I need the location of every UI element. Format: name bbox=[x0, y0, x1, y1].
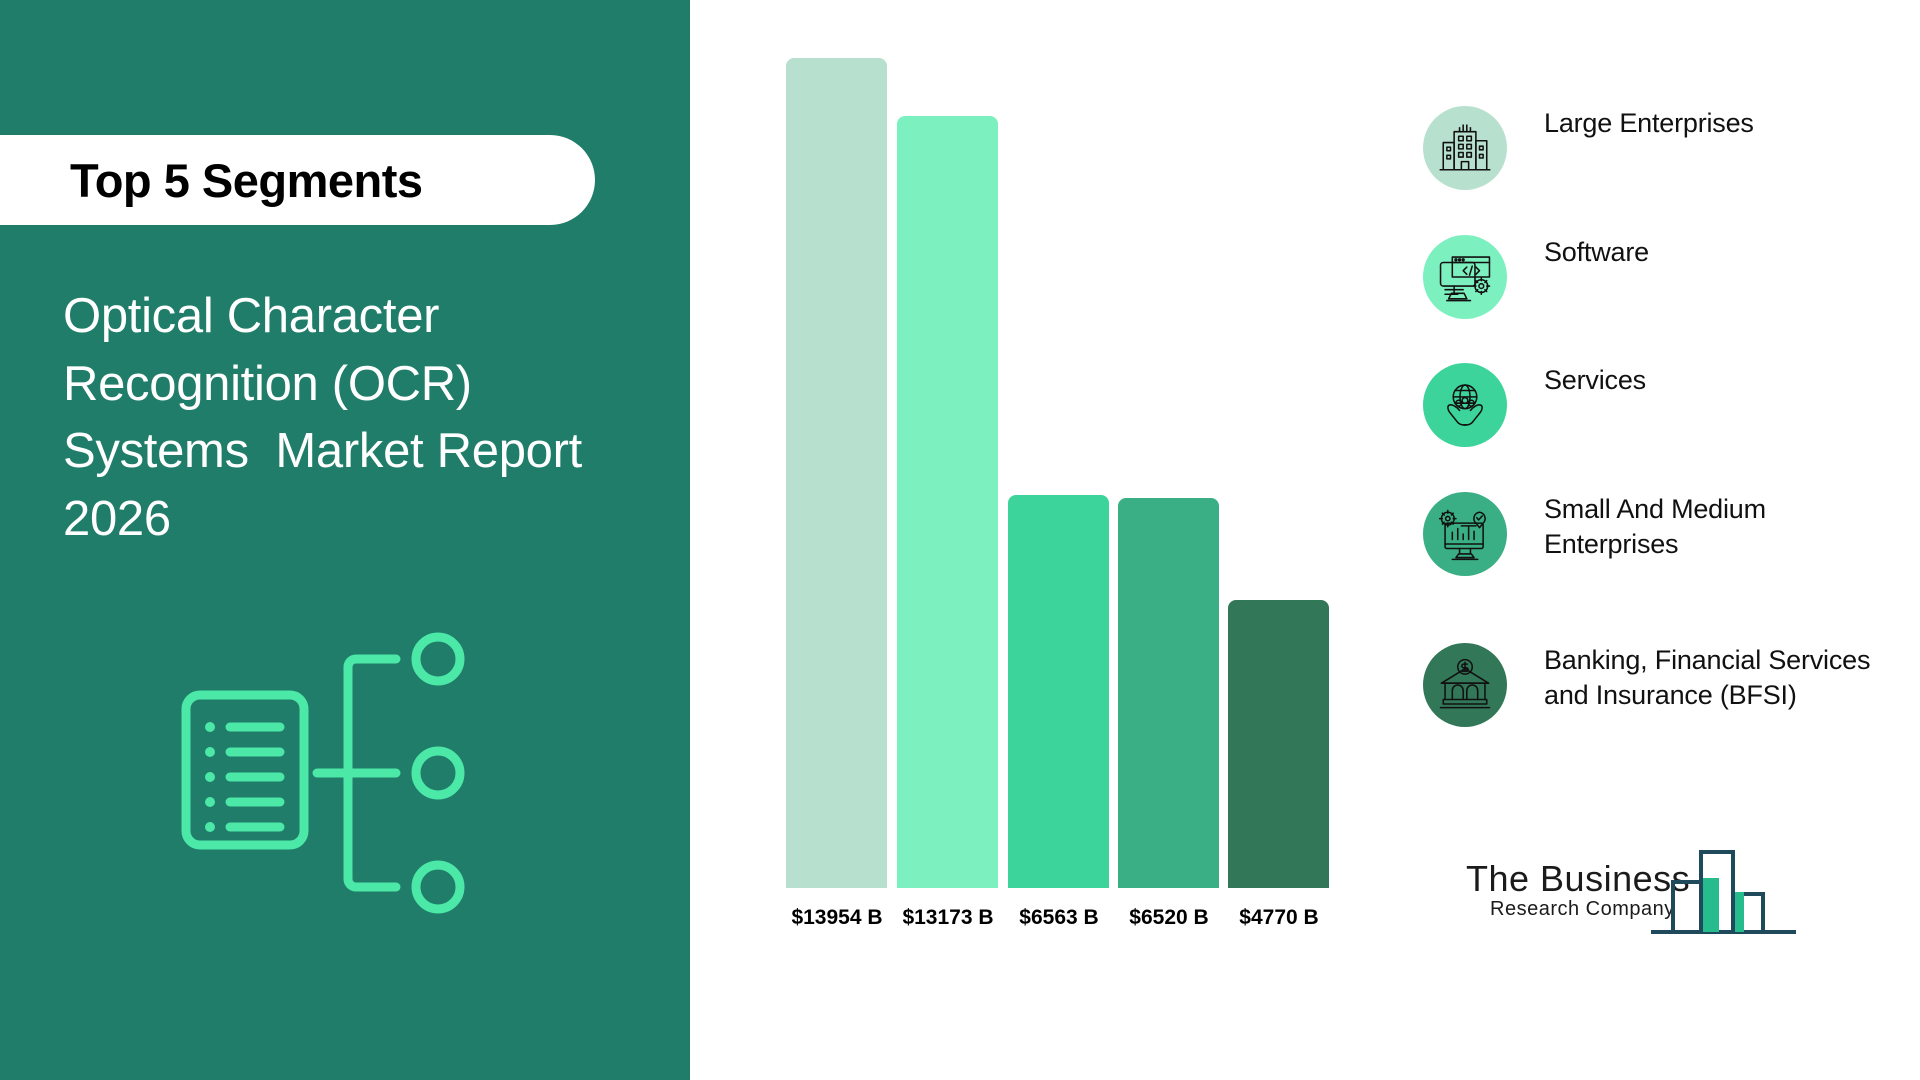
legend-label-1: Large Enterprises bbox=[1544, 106, 1754, 141]
monitor-code-gear-icon bbox=[1436, 248, 1494, 306]
left-panel: Top 5 Segments Optical Character Recogni… bbox=[0, 0, 690, 1080]
bar-column-5 bbox=[1228, 48, 1329, 888]
office-building-icon bbox=[1436, 119, 1494, 177]
legend-item-software[interactable]: Software bbox=[1423, 235, 1649, 319]
legend-swatch-5 bbox=[1423, 643, 1507, 727]
logo-line-2: Research Company bbox=[1490, 898, 1675, 921]
legend-item-services[interactable]: Services bbox=[1423, 363, 1646, 447]
legend-item-bfsi[interactable]: Banking, Financial Services and Insuranc… bbox=[1423, 643, 1874, 727]
legend-swatch-3 bbox=[1423, 363, 1507, 447]
bar-chart: $13954 B $13173 B $6563 B $6520 B $4770 … bbox=[760, 0, 1380, 1080]
legend-swatch-2 bbox=[1423, 235, 1507, 319]
bank-building-icon bbox=[1436, 656, 1494, 714]
infographic-root: Top 5 Segments Optical Character Recogni… bbox=[0, 0, 1920, 1080]
legend-label-2: Software bbox=[1544, 235, 1649, 270]
badge-label: Top 5 Segments bbox=[70, 153, 423, 208]
top-segments-badge: Top 5 Segments bbox=[0, 135, 595, 225]
bar-3 bbox=[1008, 495, 1109, 888]
legend-label-5: Banking, Financial Services and Insuranc… bbox=[1544, 643, 1874, 713]
bar-column-3 bbox=[1008, 48, 1109, 888]
bar-column-2 bbox=[897, 48, 998, 888]
bar-chart-logo-mark bbox=[1651, 840, 1796, 940]
page-title: Optical Character Recognition (OCR) Syst… bbox=[63, 283, 623, 553]
legend-swatch-4 bbox=[1423, 492, 1507, 576]
legend-swatch-1 bbox=[1423, 106, 1507, 190]
globe-in-hands-icon bbox=[1436, 376, 1494, 434]
bar-2 bbox=[897, 116, 998, 888]
bar-column-1 bbox=[786, 48, 887, 888]
bar-value-label-5: $4770 B bbox=[1214, 906, 1344, 930]
bar-chart-plot-area bbox=[760, 48, 1380, 888]
bar-4 bbox=[1118, 498, 1219, 888]
segmentation-tree-icon bbox=[160, 615, 500, 945]
legend-item-large-enterprises[interactable]: Large Enterprises bbox=[1423, 106, 1754, 190]
bar-column-4 bbox=[1118, 48, 1219, 888]
bar-5 bbox=[1228, 600, 1329, 888]
bar-1 bbox=[786, 58, 887, 888]
monitor-analytics-icon bbox=[1436, 505, 1494, 563]
legend-label-3: Services bbox=[1544, 363, 1646, 398]
legend-label-4: Small And Medium Enterprises bbox=[1544, 492, 1874, 562]
legend-item-smes[interactable]: Small And Medium Enterprises bbox=[1423, 492, 1874, 576]
company-logo: The Business Research Company bbox=[1466, 840, 1796, 940]
